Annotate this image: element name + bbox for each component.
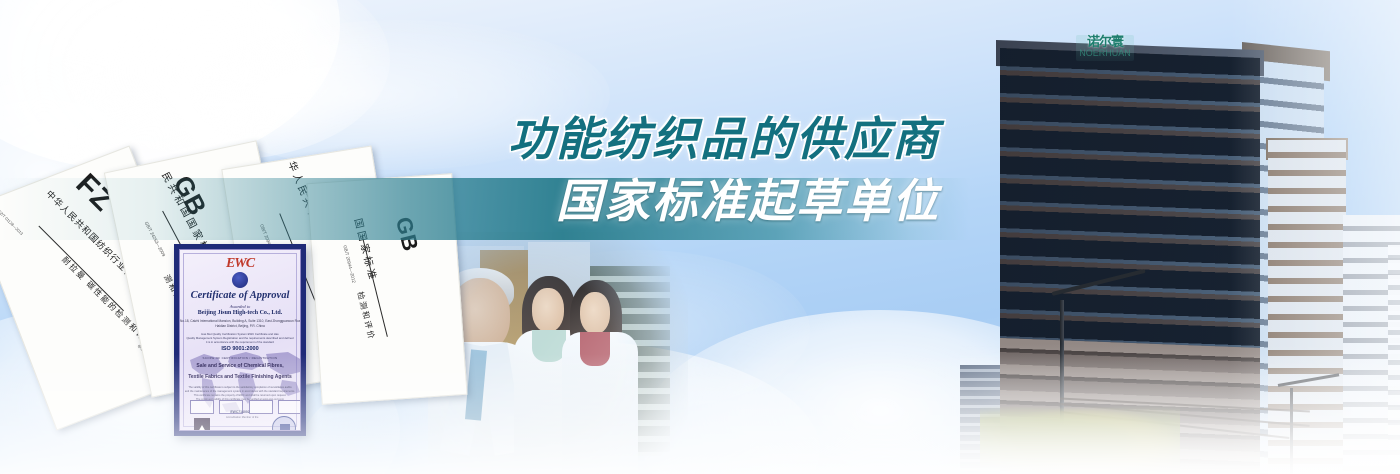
tower-glass-facade <box>1000 48 1260 348</box>
rooftop-sign: 诺尔寰 NOERHUAN <box>1076 35 1134 61</box>
certificate-title: Certificate of Approval <box>180 290 300 301</box>
anchor-icon <box>232 272 248 288</box>
certificate-statement-line3: it is in accordance with the requirement… <box>180 340 300 344</box>
headline-line-2: 国家标准起草单位 <box>0 170 940 232</box>
gb4-subtitle: 检测和评价 <box>354 290 377 341</box>
awarded-to-label: Awarded to <box>180 304 300 309</box>
certificate-company: Beijing Jisun High-tech Co., Ltd. <box>180 310 300 316</box>
certificate-address-line1: No.18, Caizhi International Mansion, Bui… <box>180 319 300 323</box>
bottom-haze-overlay <box>0 354 1400 474</box>
headline-group: 功能纺织品的供应商 国家标准起草单位 <box>0 108 960 232</box>
hero-banner: 诺尔寰 NOERHUAN <box>0 0 1400 474</box>
headline-line-1: 功能纺织品的供应商 <box>0 108 940 170</box>
certificate-address-line2: Haidian District, Beijing, P.R. China <box>180 324 300 328</box>
gb4-code: GB/T 20944—2012 <box>342 245 356 284</box>
ewc-brand-logo: EWC <box>180 256 300 272</box>
rooftop-sign-sublabel: NOERHUAN <box>1076 48 1134 58</box>
